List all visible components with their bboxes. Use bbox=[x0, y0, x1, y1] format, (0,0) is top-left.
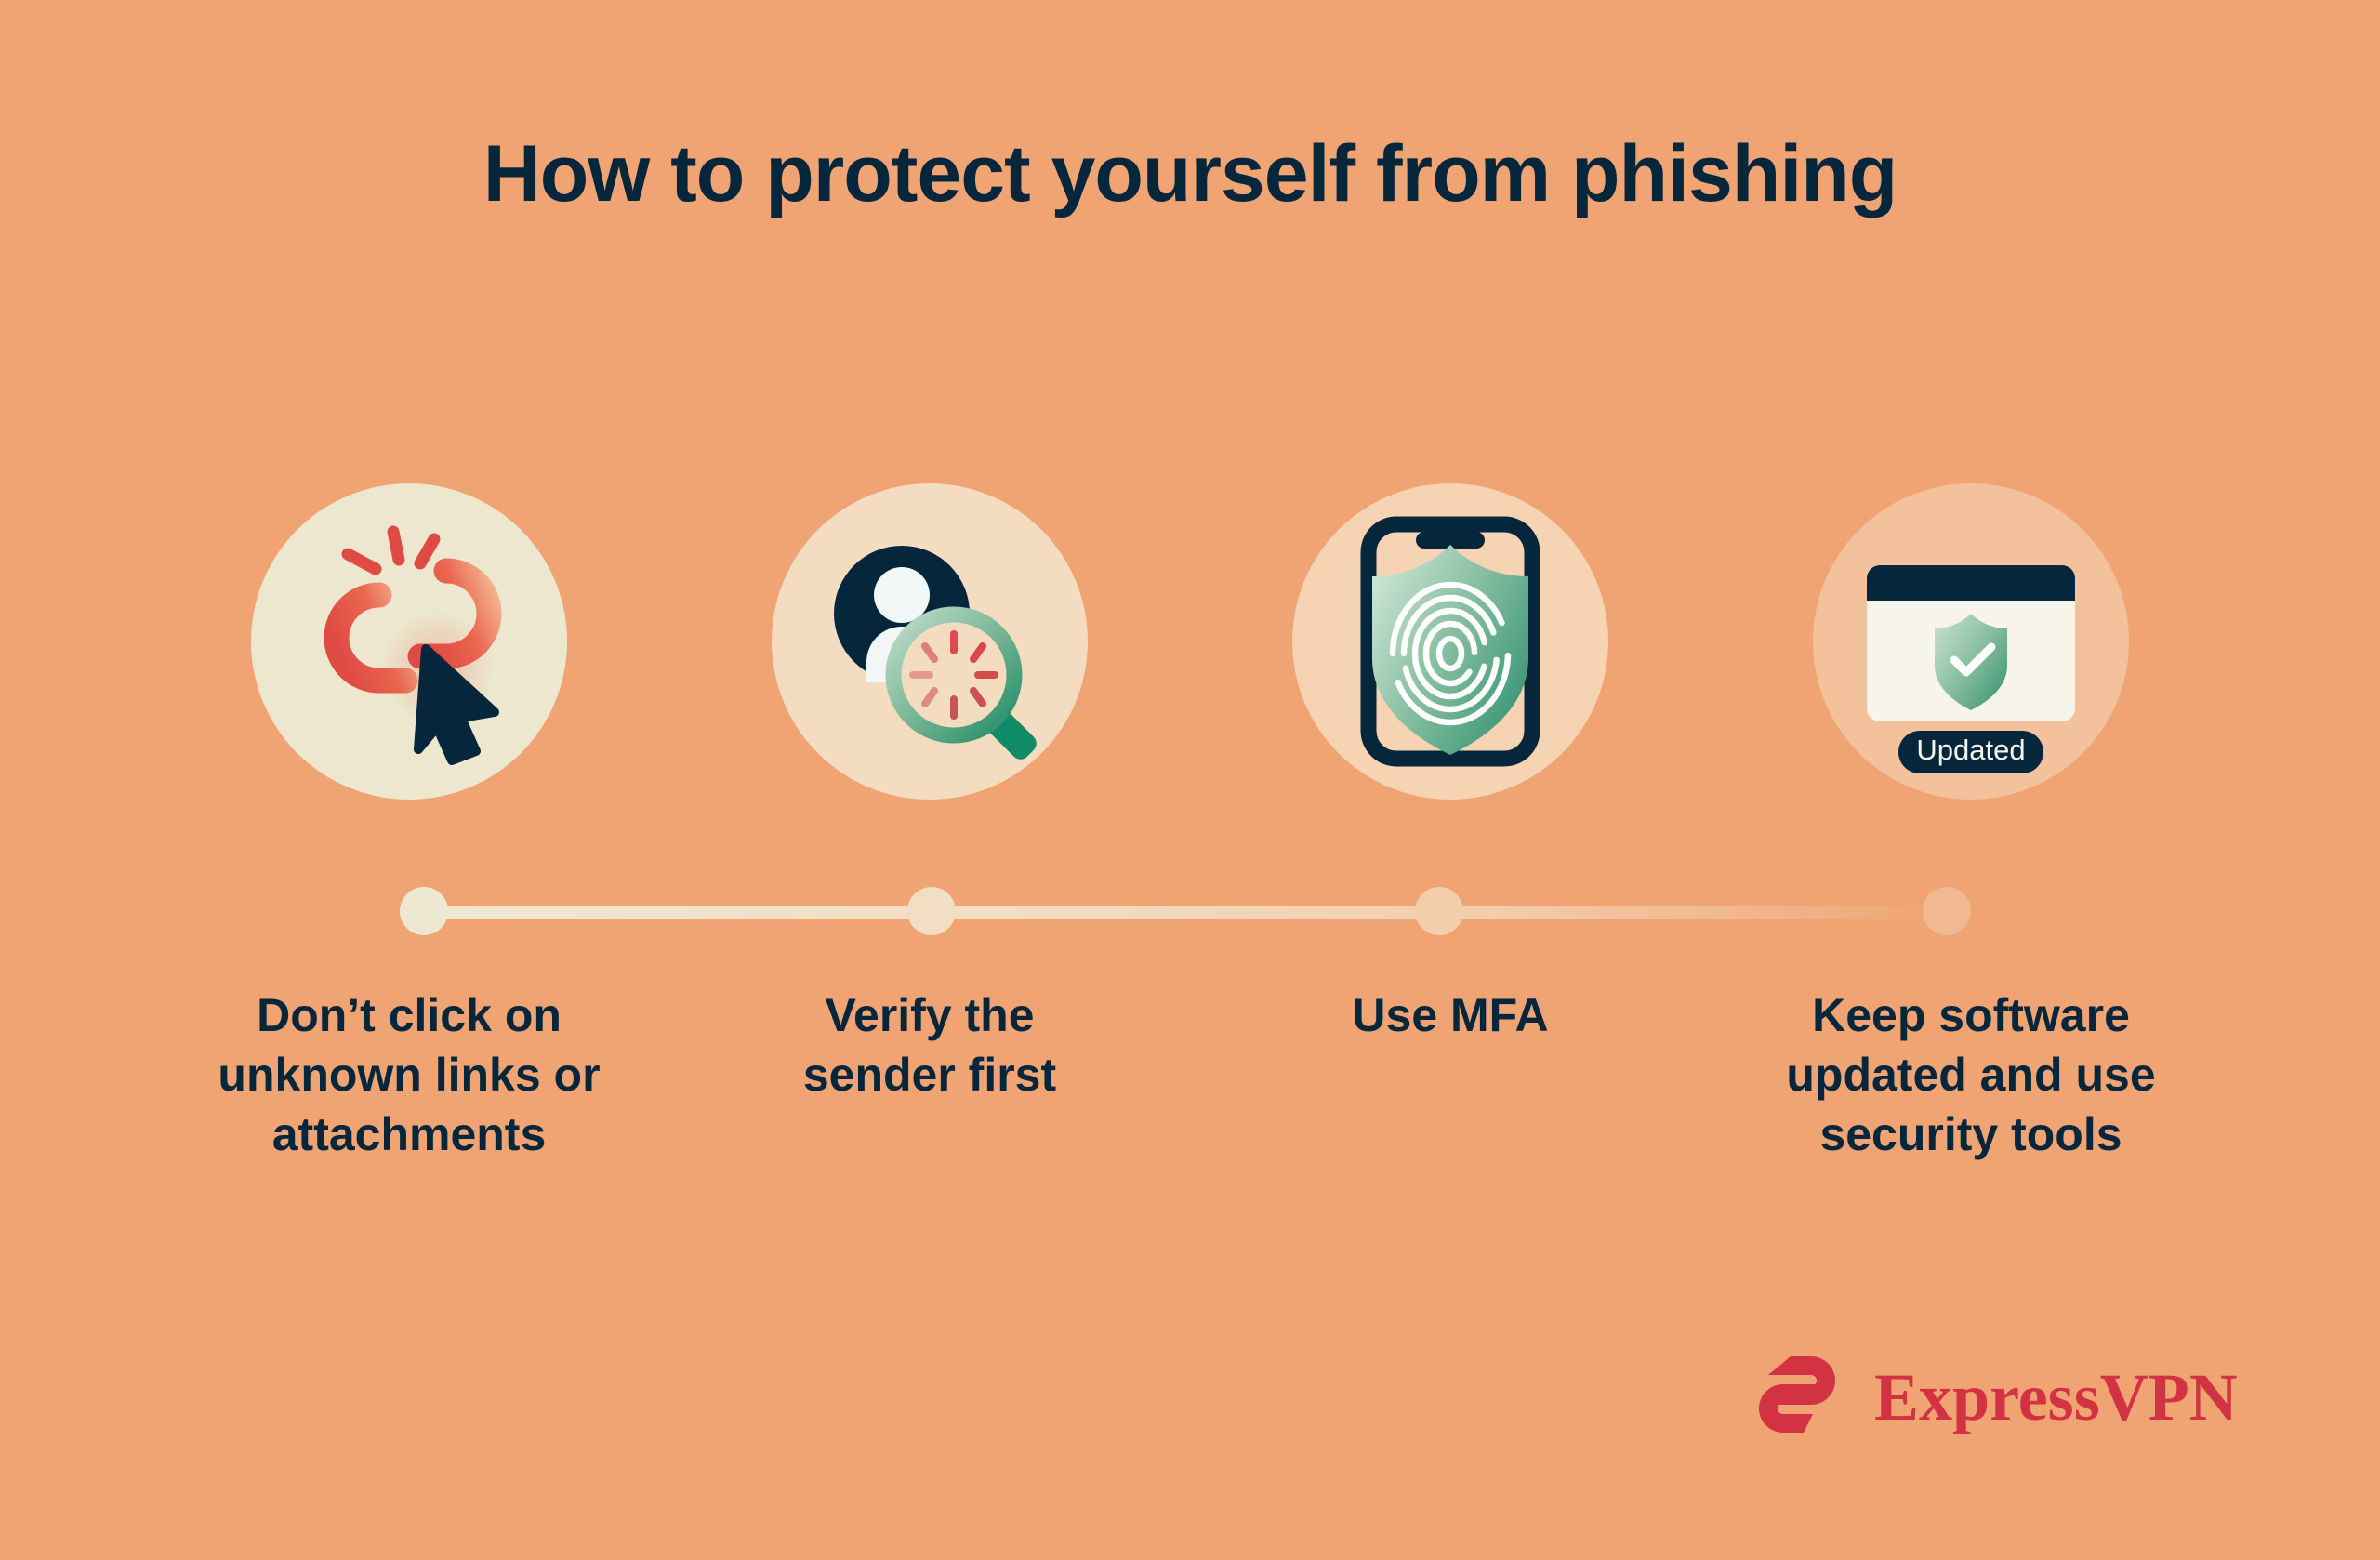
expressvpn-logo: ExpressVPN bbox=[1757, 1353, 2238, 1441]
step-4-circle: Updated bbox=[1813, 483, 2129, 800]
person-magnifier-icon bbox=[790, 502, 1069, 781]
timeline-dot-2[interactable] bbox=[907, 887, 956, 935]
step-2-icon-container bbox=[669, 483, 1190, 874]
step-3-caption: Use MFA bbox=[1190, 985, 1711, 1164]
step-2-circle bbox=[772, 483, 1088, 800]
step-3-icon-container bbox=[1190, 483, 1711, 874]
step-4-icon-container: Updated bbox=[1711, 483, 2231, 874]
steps-icon-row: Updated bbox=[149, 483, 2231, 874]
expressvpn-mark-icon bbox=[1757, 1353, 1850, 1441]
timeline-dot-1[interactable] bbox=[400, 887, 448, 935]
page-title: How to protect yourself from phishing bbox=[0, 130, 2380, 218]
browser-updated-shield-icon: Updated bbox=[1831, 502, 2110, 781]
timeline-dot-3[interactable] bbox=[1415, 887, 1463, 935]
timeline-dot-4[interactable] bbox=[1923, 887, 1971, 935]
step-1-icon-container bbox=[149, 483, 669, 874]
step-4-caption: Keep software updated and use security t… bbox=[1711, 985, 2231, 1164]
step-3-circle bbox=[1292, 483, 1608, 800]
timeline bbox=[400, 898, 1971, 926]
steps-caption-row: Don’t click on unknown links or attachme… bbox=[149, 985, 2231, 1164]
step-2-caption: Verify the sender first bbox=[669, 985, 1190, 1164]
broken-link-cursor-icon bbox=[270, 502, 549, 781]
timeline-track bbox=[424, 906, 1947, 919]
step-1-circle bbox=[251, 483, 567, 800]
updated-badge-label: Updated bbox=[1916, 734, 2025, 766]
step-1-caption: Don’t click on unknown links or attachme… bbox=[149, 985, 669, 1164]
expressvpn-wordmark: ExpressVPN bbox=[1874, 1364, 2238, 1431]
phone-shield-fingerprint-icon bbox=[1311, 502, 1590, 781]
